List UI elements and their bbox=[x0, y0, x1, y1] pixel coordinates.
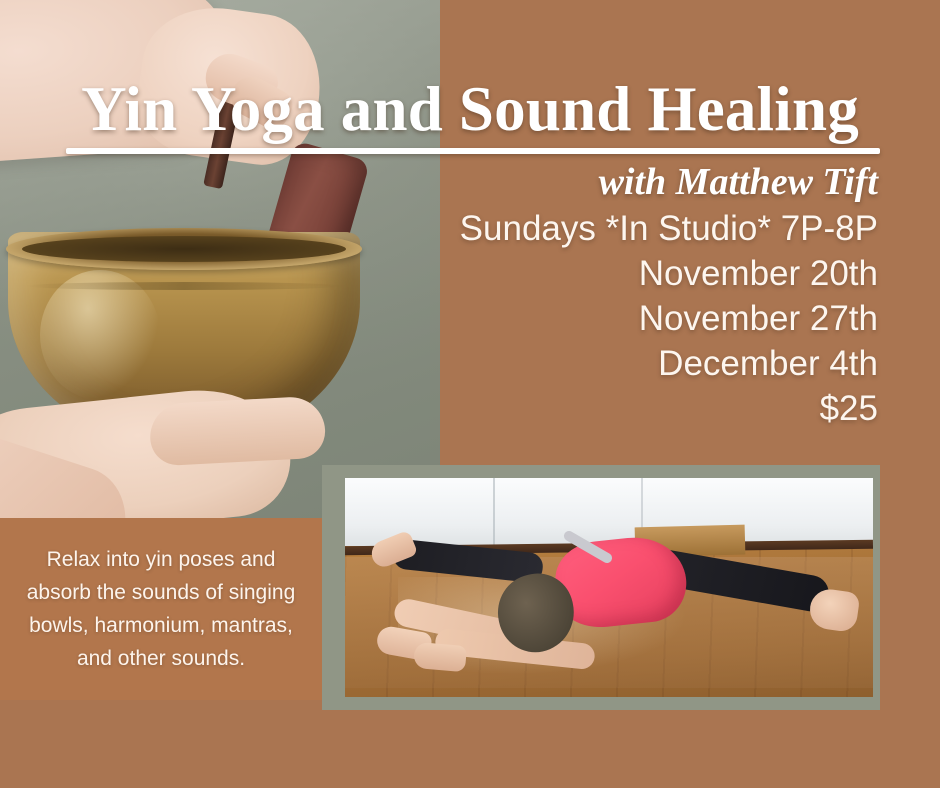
detail-line-schedule: Sundays *In Studio* 7P-8P bbox=[258, 206, 878, 251]
studio-wall bbox=[345, 478, 873, 546]
detail-line-date-1: November 20th bbox=[258, 251, 878, 296]
detail-line-price: $25 bbox=[258, 386, 878, 431]
description-text: Relax into yin poses and absorb the soun… bbox=[0, 543, 322, 675]
wall-seam bbox=[493, 478, 495, 546]
detail-line-date-2: November 27th bbox=[258, 296, 878, 341]
title-underline-rule bbox=[66, 148, 880, 154]
yoga-pose-photo bbox=[345, 478, 873, 697]
yin-yoga-sound-healing-flyer: Yin Yoga and Sound Healing with Matthew … bbox=[0, 0, 940, 788]
schedule-details: Sundays *In Studio* 7P-8P November 20th … bbox=[258, 206, 878, 431]
description-box: Relax into yin poses and absorb the soun… bbox=[0, 518, 322, 700]
flyer-subtitle: with Matthew Tift bbox=[278, 160, 878, 204]
detail-line-date-3: December 4th bbox=[258, 341, 878, 386]
